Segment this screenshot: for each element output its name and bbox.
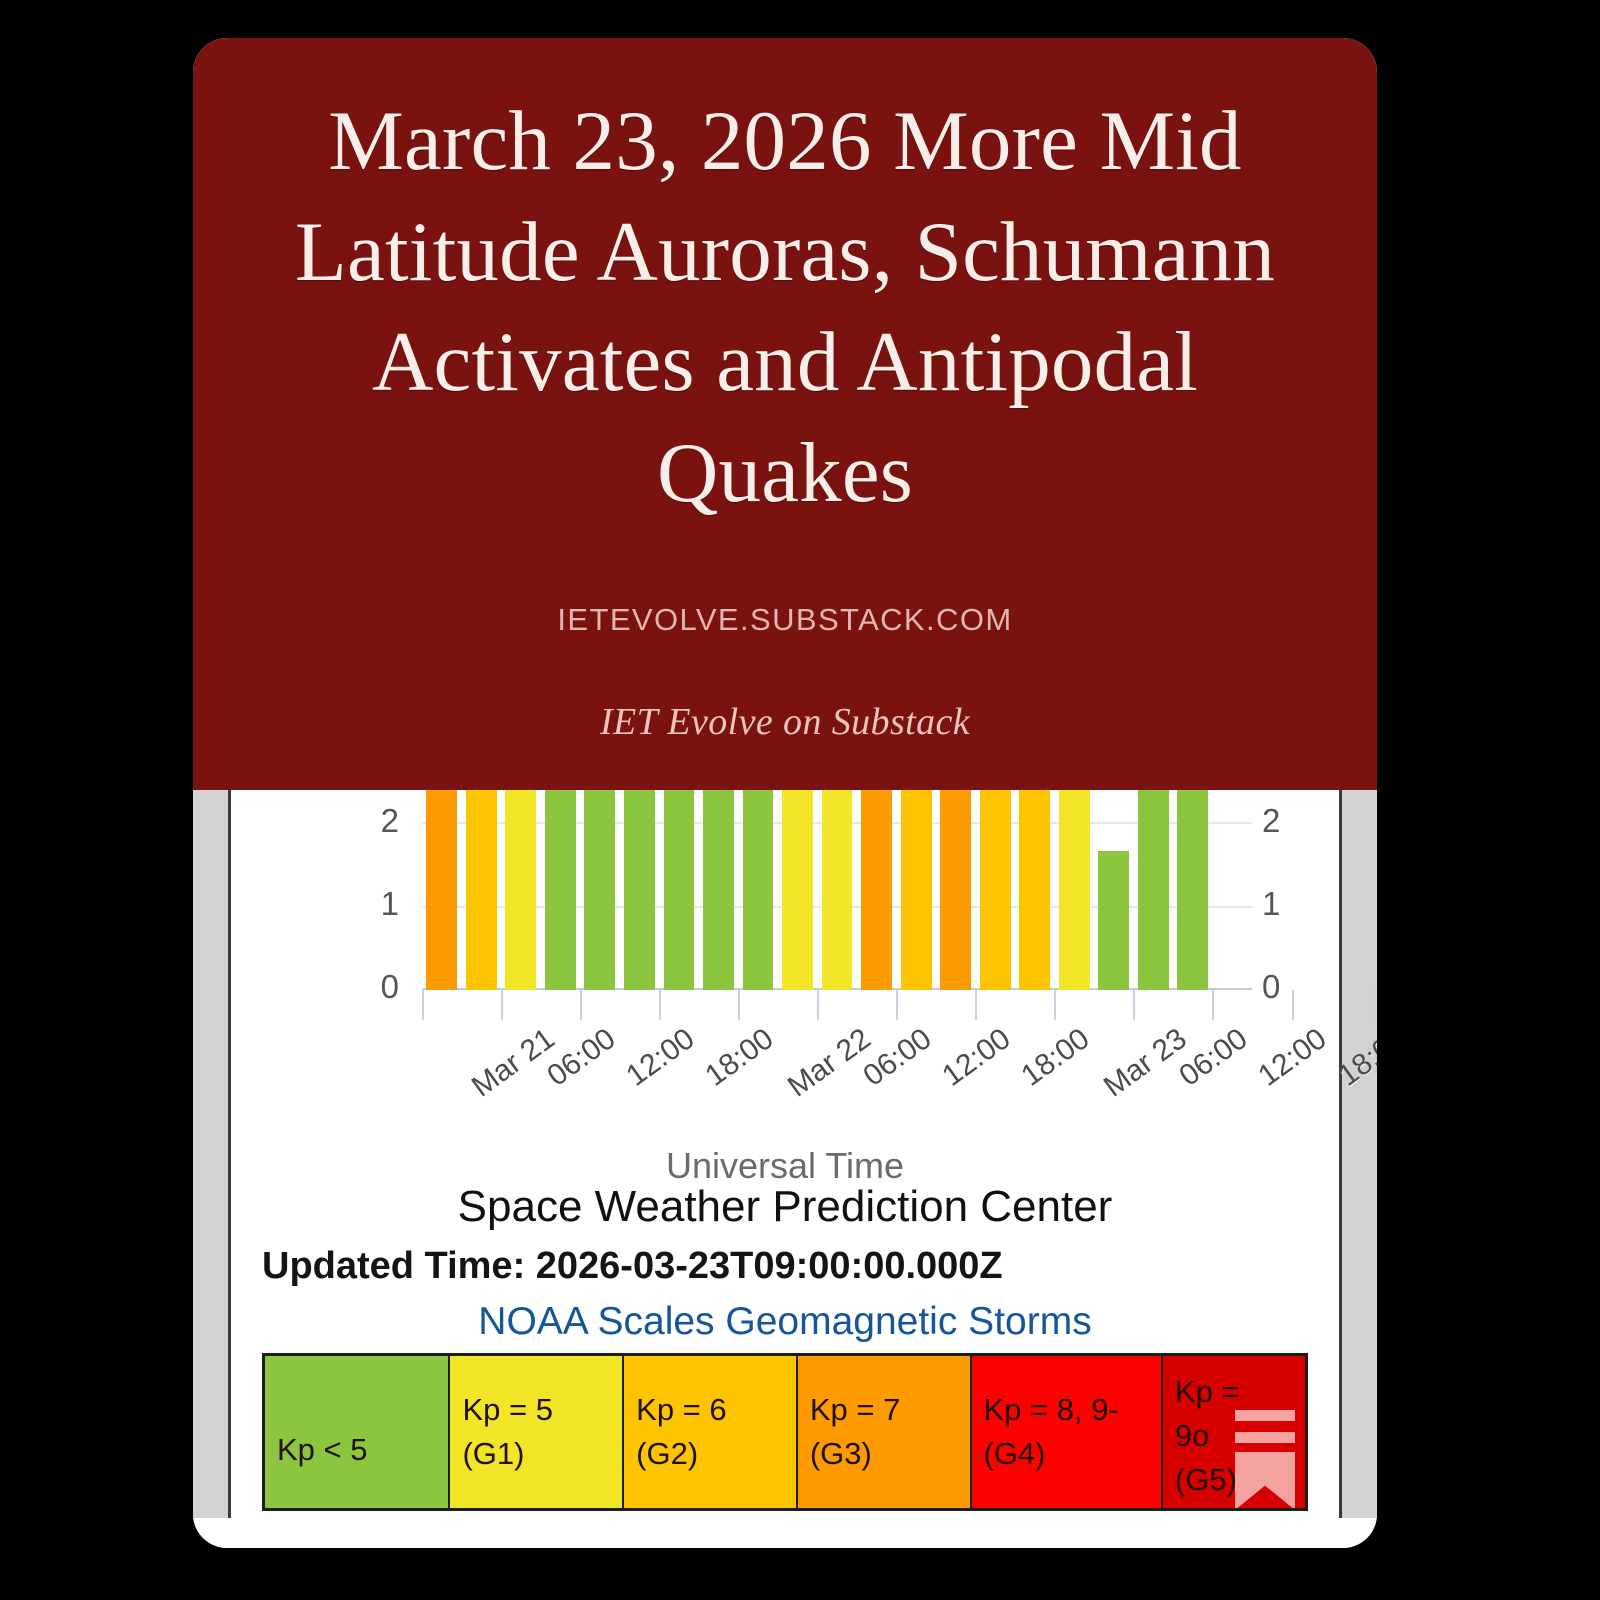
bar	[861, 790, 892, 990]
y-axis-left: 210	[339, 790, 399, 1028]
x-tick-mark	[738, 990, 740, 1020]
bar	[545, 790, 576, 990]
bar-series	[422, 790, 1252, 990]
x-tick-label: 12:00	[620, 1022, 701, 1094]
bar-slot	[857, 790, 897, 990]
x-tick-mark	[896, 990, 898, 1020]
bar-slot	[580, 790, 620, 990]
bar-slot	[501, 790, 541, 990]
bar-slot	[975, 790, 1015, 990]
bar-slot	[620, 790, 660, 990]
bar	[782, 790, 813, 990]
x-tick-mark	[817, 990, 819, 1020]
chart-canvas: 210 210 Mar 2106:0012:0018:00Mar 2206:00…	[234, 790, 1336, 1518]
x-tick-mark	[1371, 990, 1373, 1020]
scale-cell-text: Kp = 8, 9-	[984, 1388, 1149, 1432]
bar	[664, 790, 695, 990]
x-tick-label: 06:00	[858, 1022, 939, 1094]
x-tick-mark	[580, 990, 582, 1020]
bar-slot	[817, 790, 857, 990]
scale-cell-5: Kp =9o(G5)	[1163, 1356, 1305, 1508]
bar	[901, 790, 932, 990]
bar-slot	[1055, 790, 1095, 990]
x-axis-labels: Mar 2106:0012:0018:00Mar 2206:0012:0018:…	[422, 1022, 1252, 1142]
x-tick-label: 06:00	[1174, 1022, 1255, 1094]
bar-slot	[1134, 790, 1174, 990]
x-tick-label: 18:00	[1016, 1022, 1097, 1094]
chart-source-label: Space Weather Prediction Center	[234, 1182, 1336, 1232]
bar-slot	[1094, 790, 1134, 990]
x-tick-mark	[501, 990, 503, 1020]
publication-name: IET Evolve on Substack	[241, 700, 1329, 744]
bar-slot	[778, 790, 818, 990]
bar	[940, 790, 971, 990]
x-tick-mark	[1133, 990, 1135, 1020]
kp-index-chart: 210 210 Mar 2106:0012:0018:00Mar 2206:00…	[234, 790, 1336, 1028]
y-tick-2: 2	[339, 804, 399, 837]
substack-post-card[interactable]: March 23, 2026 More Mid Latitude Auroras…	[193, 38, 1377, 1548]
scale-cell-4: Kp = 8, 9-(G4)	[972, 1356, 1163, 1508]
bar-slot	[541, 790, 581, 990]
scale-cell-text: Kp = 6	[636, 1388, 784, 1432]
scale-cell-text: Kp = 7	[810, 1388, 958, 1432]
bar	[743, 790, 774, 990]
scale-cell-0: Kp < 5	[265, 1356, 450, 1508]
bar-slot	[659, 790, 699, 990]
x-tick-label: 18:00	[699, 1022, 780, 1094]
bar	[1059, 790, 1090, 990]
scale-cell-text: 9o	[1175, 1414, 1293, 1458]
x-tick-label: 12:00	[937, 1022, 1018, 1094]
scale-cell-1: Kp = 5(G1)	[450, 1356, 624, 1508]
plot-area	[422, 790, 1252, 990]
bar-slot	[1015, 790, 1055, 990]
bar	[426, 790, 457, 990]
y-tick-2: 2	[1262, 804, 1322, 837]
site-domain-label: IETEVOLVE.SUBSTACK.COM	[241, 602, 1329, 638]
x-axis-title: Universal Time	[234, 1145, 1336, 1187]
embedded-chart-image[interactable]: 210 210 Mar 2106:0012:0018:00Mar 2206:00…	[193, 790, 1377, 1548]
bar	[1019, 790, 1050, 990]
bar	[1098, 851, 1129, 990]
post-header: March 23, 2026 More Mid Latitude Auroras…	[193, 38, 1377, 790]
bar-slot	[422, 790, 462, 990]
scale-cell-text: (G2)	[636, 1432, 784, 1476]
bar-slot	[699, 790, 739, 990]
bar	[1177, 790, 1208, 990]
scale-cell-text: Kp =	[1175, 1370, 1293, 1414]
scale-cell-text: (G5)	[1175, 1458, 1293, 1502]
bar	[624, 790, 655, 990]
x-tick-mark	[1054, 990, 1056, 1020]
screenshot-root: March 23, 2026 More Mid Latitude Auroras…	[0, 0, 1600, 1600]
bar	[1138, 790, 1169, 990]
x-tick-mark	[422, 990, 424, 1020]
x-tick-label: 06:00	[541, 1022, 622, 1094]
bar	[980, 790, 1011, 990]
scale-cell-3: Kp = 7(G3)	[798, 1356, 972, 1508]
updated-time-label: Updated Time: 2026-03-23T09:00:00.000Z	[262, 1245, 1003, 1288]
x-tick-mark	[1292, 990, 1294, 1020]
x-tick-label: 12:00	[1253, 1022, 1334, 1094]
bar	[466, 790, 497, 990]
bar	[584, 790, 615, 990]
bar	[703, 790, 734, 990]
scale-cell-text: Kp < 5	[277, 1428, 436, 1472]
page-title: March 23, 2026 More Mid Latitude Auroras…	[241, 86, 1329, 528]
image-right-edge	[1339, 790, 1377, 1518]
bar-slot	[462, 790, 502, 990]
image-left-edge	[193, 790, 231, 1518]
y-tick-0: 0	[339, 970, 399, 1003]
bar	[822, 790, 853, 990]
scale-cell-2: Kp = 6(G2)	[624, 1356, 798, 1508]
scale-cell-text: (G1)	[462, 1432, 610, 1476]
x-tick-mark	[659, 990, 661, 1020]
bar-slot	[936, 790, 976, 990]
bar-slot	[1173, 790, 1213, 990]
y-tick-1: 1	[1262, 887, 1322, 920]
scale-cell-text: (G4)	[984, 1432, 1149, 1476]
scale-cell-text: (G3)	[810, 1432, 958, 1476]
x-tick-mark	[975, 990, 977, 1020]
bar-slot	[738, 790, 778, 990]
x-tick-mark	[1212, 990, 1214, 1020]
scale-cell-text: Kp = 5	[462, 1388, 610, 1432]
noaa-scales-title: NOAA Scales Geomagnetic Storms	[234, 1300, 1336, 1344]
y-tick-1: 1	[339, 887, 399, 920]
bar	[505, 790, 536, 990]
bar-slot	[1213, 790, 1253, 990]
noaa-scales-legend: Kp < 5Kp = 5(G1)Kp = 6(G2)Kp = 7(G3)Kp =…	[262, 1353, 1308, 1511]
bar-slot	[896, 790, 936, 990]
